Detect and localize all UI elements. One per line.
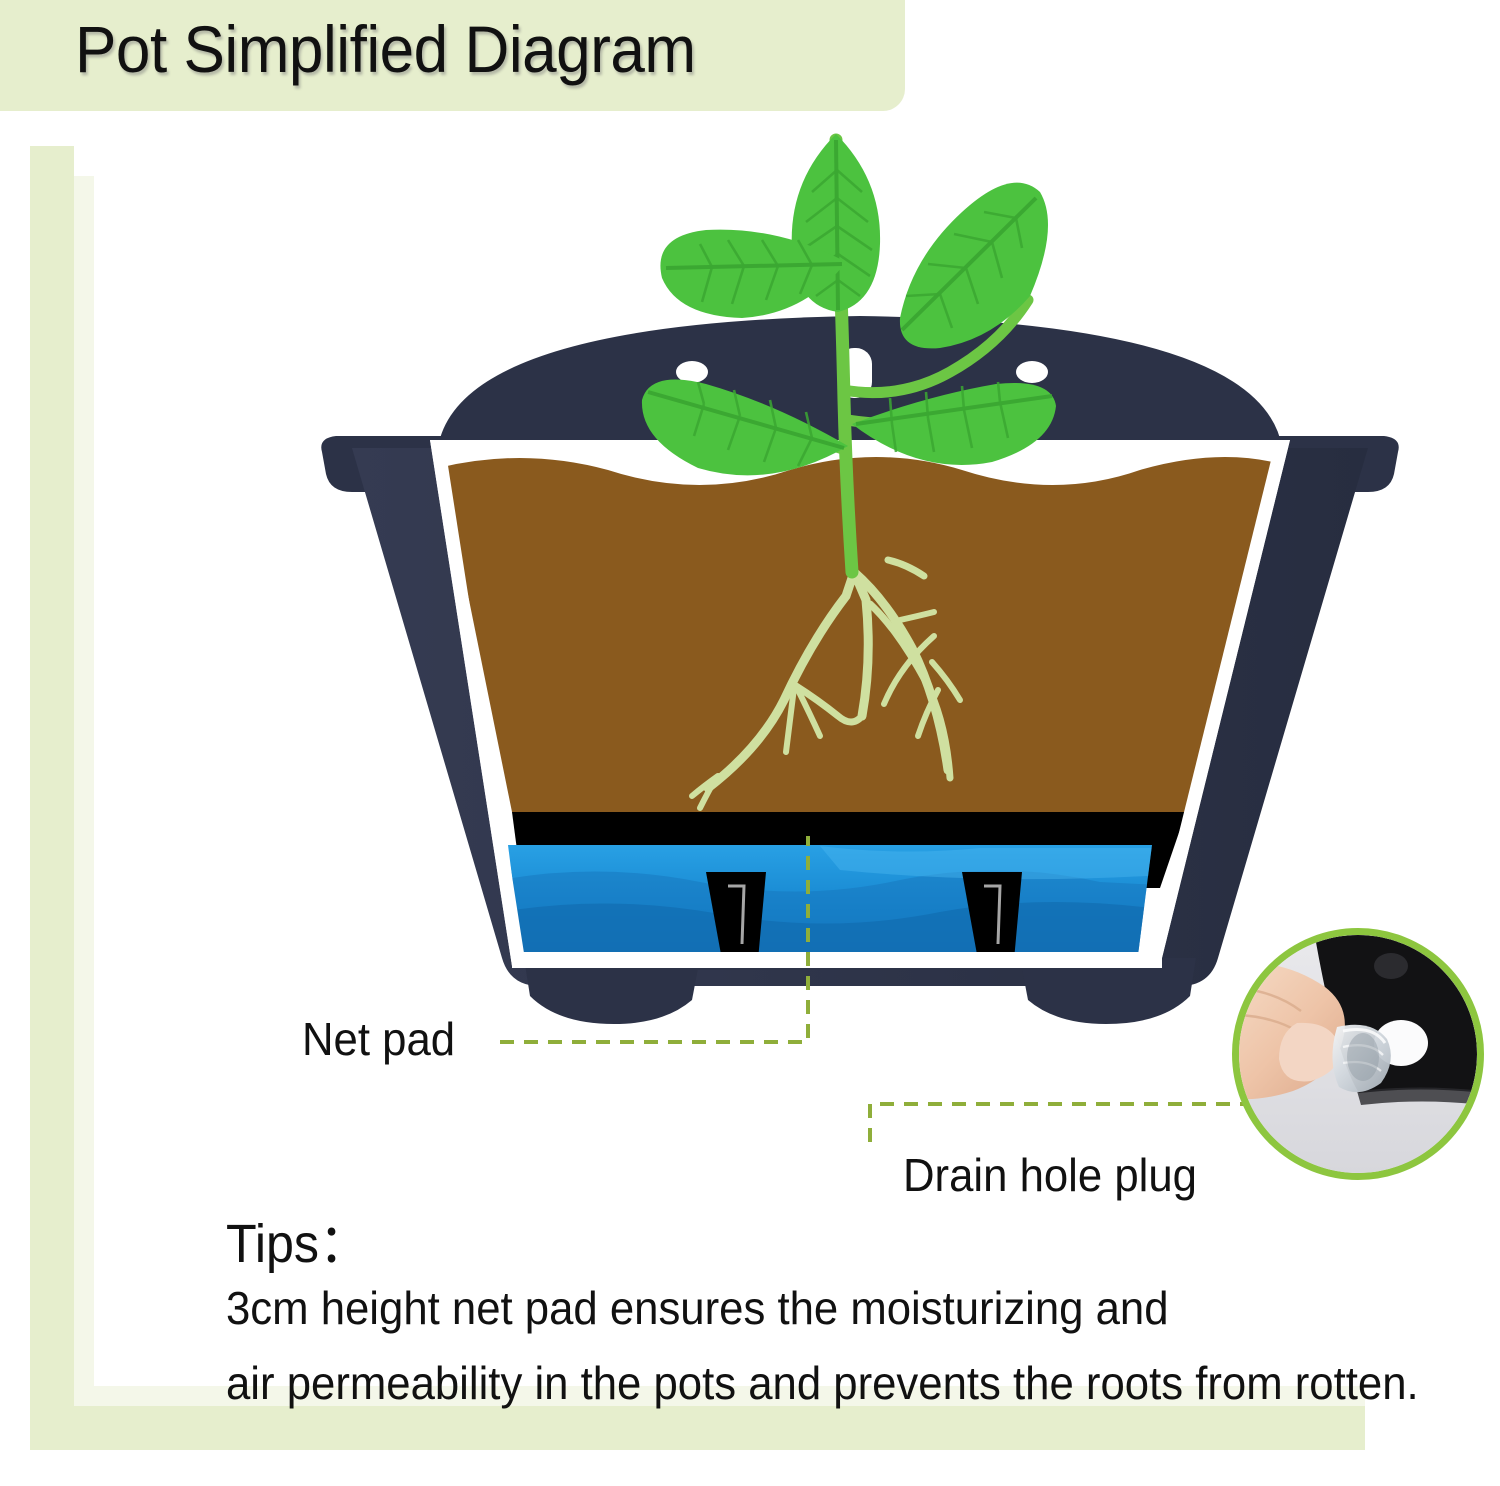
plant-group xyxy=(642,134,1056,572)
callout-label-drain-hole-plug: Drain hole plug xyxy=(903,1148,1197,1202)
pot-foot-right xyxy=(1020,958,1196,1024)
water-highlight xyxy=(820,846,1180,879)
pot-base-plate xyxy=(660,952,1060,970)
cutaway-edge-bottom xyxy=(512,952,1162,968)
plant-branch-midleft xyxy=(678,255,840,272)
water-reservoir xyxy=(500,840,1180,970)
frame-left-accent-bar xyxy=(30,146,74,1406)
leaf-upper-right xyxy=(900,183,1048,349)
callout-label-net-pad: Net pad xyxy=(302,1012,455,1066)
frame-bottom-accent-bar xyxy=(30,1406,1365,1450)
net-pad-leg-left xyxy=(706,872,766,967)
cutaway-window-group xyxy=(430,440,1300,970)
water-wave-1 xyxy=(500,870,1180,960)
callout-leader-lines xyxy=(500,836,1246,1142)
soil-top-scallop xyxy=(430,440,1300,485)
pot-left-handle xyxy=(321,436,452,492)
photo-inset-drain-hole-plug[interactable] xyxy=(1232,928,1484,1180)
water-wave-2 xyxy=(500,902,1180,960)
rim-hole-center xyxy=(838,348,872,398)
net-pad xyxy=(512,812,1186,967)
tips-line-2: air permeability in the pots and prevent… xyxy=(226,1356,1419,1410)
soil-layer xyxy=(430,440,1300,840)
leaf-top-center xyxy=(792,134,880,312)
cutaway-edge-left xyxy=(430,440,526,966)
leaf-lower-right xyxy=(852,382,1056,465)
cutaway-edge-right xyxy=(1146,440,1290,966)
net-pad-plate xyxy=(512,812,1186,888)
leader-line-net-pad xyxy=(500,836,808,1042)
tips-heading: Tips： xyxy=(226,1199,369,1278)
net-pad-legs-foreground xyxy=(706,872,1022,967)
infographic-page: Pot Simplified Diagram xyxy=(0,0,1500,1486)
pot-cross-section-diagram xyxy=(0,0,1500,1486)
plant-branch-lowright xyxy=(847,398,1020,424)
pot-body-group xyxy=(321,316,1398,1024)
leaf-mid-left xyxy=(660,230,846,318)
net-pad-leg-right xyxy=(962,872,1022,967)
rim-hole-left xyxy=(676,361,708,383)
frame-left-accent-bar-light xyxy=(74,176,94,1406)
inset-pot-boss xyxy=(1374,953,1408,979)
plant-branch-left xyxy=(690,392,846,450)
pot-rim-arch xyxy=(438,316,1282,447)
pot-right-handle xyxy=(1268,436,1399,492)
leader-line-drain-hole-plug xyxy=(870,1104,1246,1142)
plant-branch-right xyxy=(843,300,1028,393)
leaf-lower-left xyxy=(642,380,848,476)
plant-main-stem xyxy=(836,140,852,572)
root-system xyxy=(692,560,960,808)
pot-foot-left xyxy=(524,958,700,1024)
page-title: Pot Simplified Diagram xyxy=(75,11,696,87)
pot-outer-body xyxy=(352,448,1368,986)
tips-line-1: 3cm height net pad ensures the moisturiz… xyxy=(226,1281,1169,1335)
rim-hole-right xyxy=(1016,361,1048,383)
cutaway-outline xyxy=(430,440,1290,966)
